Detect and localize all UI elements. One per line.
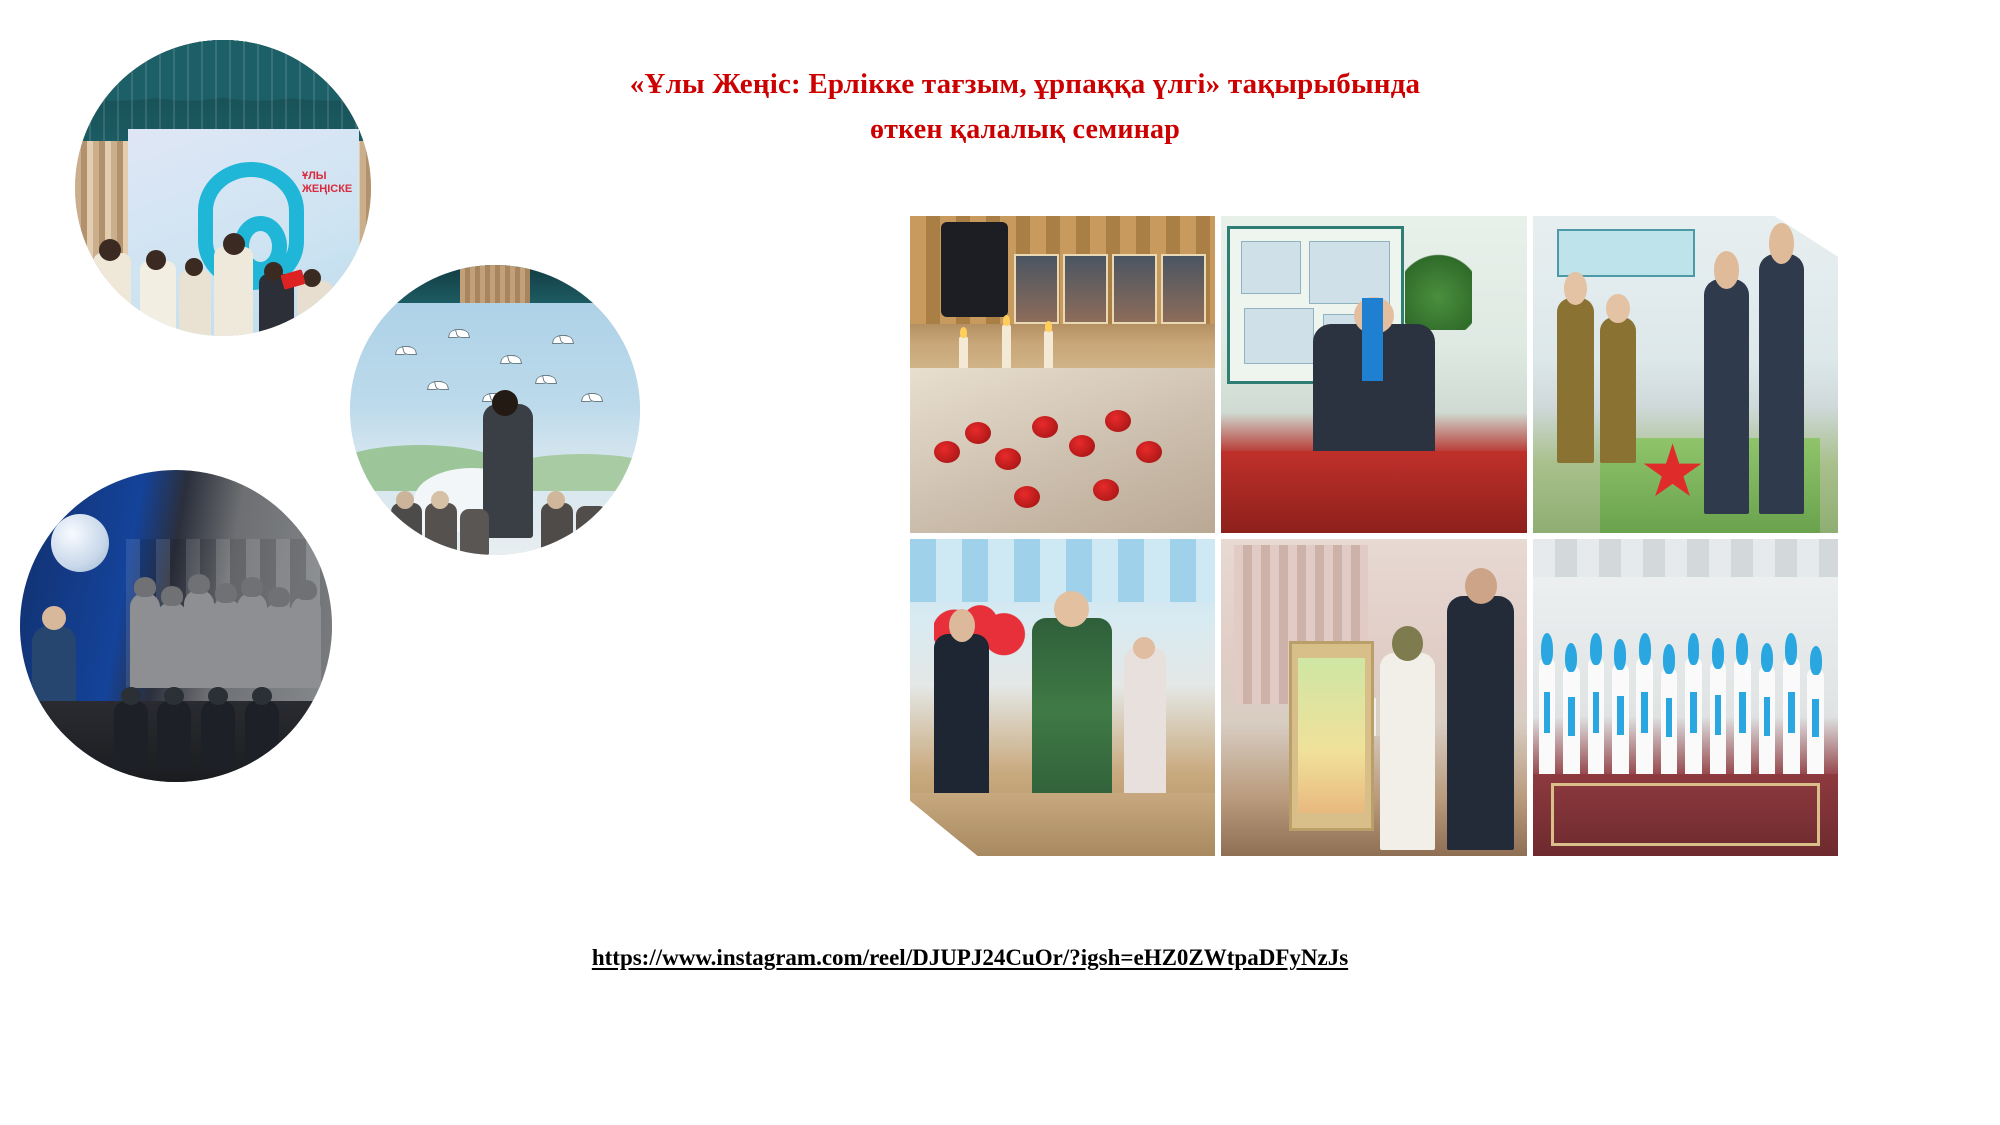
stage-curtain-top [350, 265, 640, 303]
stage-valance [75, 40, 371, 141]
banner-text: ҰЛЫ ЖЕҢІСКЕ [302, 170, 352, 196]
title-line-1: «Ұлы Жеңіс: Ерлікке тағзым, ұрпаққа үлгі… [470, 62, 1580, 107]
painting-easel [1289, 641, 1374, 831]
circle-photo-1-image: ҰЛЫ ЖЕҢІСКЕ [75, 40, 371, 336]
page-title: «Ұлы Жеңіс: Ерлікке тағзым, ұрпаққа үлгі… [470, 62, 1580, 152]
ceiling [1533, 539, 1838, 577]
photo-collage-frame [888, 196, 1860, 878]
title-line-2: өткен қалалық семинар [470, 107, 1580, 152]
circle-photo-moon-projection [20, 470, 332, 782]
child-painter [1380, 653, 1435, 850]
collage-photo-model-exhibit [1533, 216, 1838, 533]
instagram-reel-link[interactable]: https://www.instagram.com/reel/DJUPJ24Cu… [470, 945, 1470, 971]
circle-photo-stage-banner: ҰЛЫ ЖЕҢІСКЕ [75, 40, 371, 336]
student-crowd [75, 229, 371, 336]
circle-photo-2-image [350, 265, 640, 555]
slide-canvas: «Ұлы Жеңіс: Ерлікке тағзым, ұрпаққа үлгі… [0, 0, 2000, 1125]
circle-photo-3-image [20, 470, 332, 782]
military-uniform [941, 222, 1008, 317]
classroom-board [1557, 229, 1695, 277]
moon-graphic [51, 514, 109, 572]
collage-photo-childrens-choir [1533, 539, 1838, 856]
exhibition-table [1221, 451, 1526, 533]
photo-collage-grid [910, 216, 1838, 856]
circle-photo-crane-mural [350, 265, 640, 555]
soldier-photo-projection [126, 539, 332, 689]
collage-photo-chapan-ceremony [910, 539, 1215, 856]
floor [910, 793, 1215, 856]
potted-plant [1405, 248, 1472, 330]
red-carpet [1533, 774, 1838, 856]
veteran-portraits [1014, 254, 1206, 324]
veteran-observer [1447, 596, 1514, 850]
collage-photo-child-painting [1221, 539, 1526, 856]
childrens-choir [1533, 647, 1838, 780]
crane-mural [350, 265, 640, 555]
projection-scene [20, 470, 332, 782]
collage-photo-memorial-table [910, 216, 1215, 533]
collage-photo-veteran-speaking [1221, 216, 1526, 533]
